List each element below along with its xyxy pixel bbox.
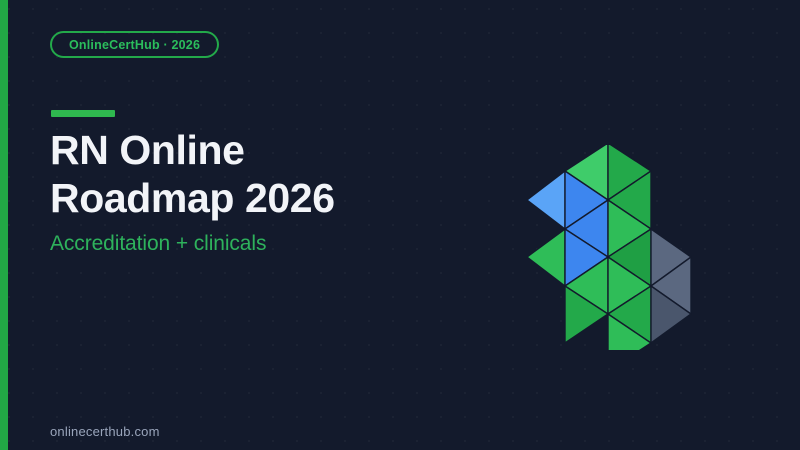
page-title: RN Online Roadmap 2026 xyxy=(50,126,490,222)
page-title-line-2: Roadmap 2026 xyxy=(50,174,490,222)
page-title-line-1: RN Online xyxy=(50,126,490,174)
slide-canvas: OnlineCertHub · 2026 RN Online Roadmap 2… xyxy=(0,0,800,450)
isometric-triangle-icon xyxy=(515,145,705,350)
title-accent-bar xyxy=(51,110,115,117)
footer-website: onlinecerthub.com xyxy=(50,424,160,439)
logo-mark xyxy=(515,145,705,350)
page-subtitle: Accreditation + clinicals xyxy=(50,232,266,256)
left-accent-bar xyxy=(0,0,8,450)
brand-badge-label: OnlineCertHub · 2026 xyxy=(69,38,200,52)
brand-badge: OnlineCertHub · 2026 xyxy=(50,31,219,58)
